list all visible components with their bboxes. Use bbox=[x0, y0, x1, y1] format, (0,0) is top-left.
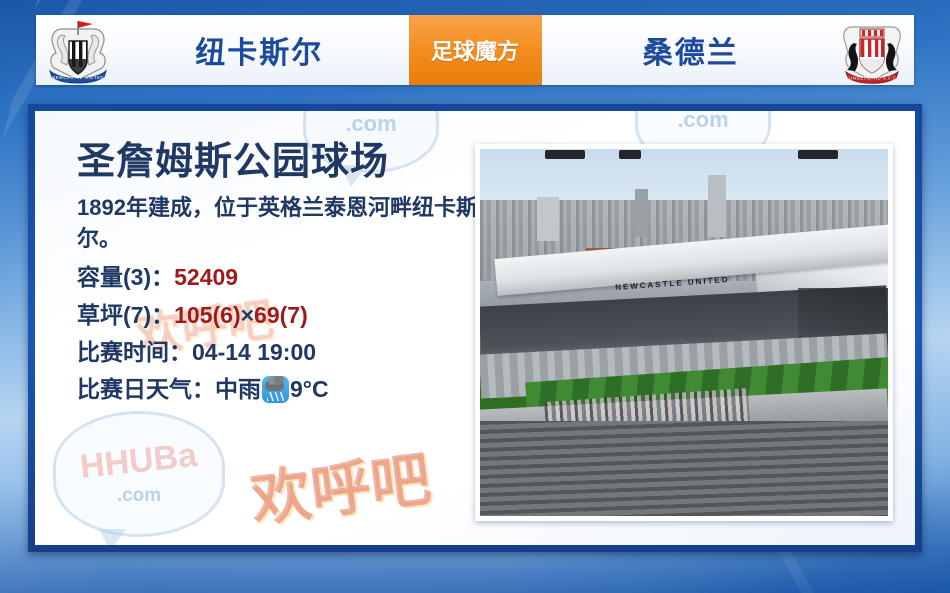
stadium-description: 1892年建成，位于英格兰泰恩河畔纽卡斯尔。 bbox=[77, 192, 487, 256]
stadium-card-inner: .com .com HHUBa .com 欢呼吧 欢呼吧 圣詹姆斯公园球场 18… bbox=[35, 111, 915, 545]
brand-logo-text: 足球魔方 bbox=[431, 34, 519, 66]
match-header: NEWCASTLE UNITED 纽卡斯尔 足球魔方 桑德兰 bbox=[36, 15, 914, 85]
capacity-value: 52409 bbox=[174, 264, 238, 290]
stadium-title: 圣詹姆斯公园球场 bbox=[77, 141, 487, 184]
weather-row: 比赛日天气：中雨9°C bbox=[77, 371, 487, 408]
sunderland-afc-crest: SUNDERLAND A.F.C. bbox=[830, 15, 914, 85]
weather-value: 中雨 bbox=[215, 376, 261, 402]
svg-text:NEWCASTLE UNITED: NEWCASTLE UNITED bbox=[52, 75, 104, 80]
stadium-photo-frame: NEWCASTLE UNITED bbox=[475, 144, 893, 521]
brand-logo[interactable]: 足球魔方 bbox=[409, 15, 542, 85]
watermark-brand-cn: 欢呼吧 bbox=[245, 430, 434, 538]
weather-label: 比赛日天气： bbox=[77, 376, 215, 402]
match-time-value: 04-14 19:00 bbox=[192, 339, 316, 365]
stadium-photo: NEWCASTLE UNITED bbox=[480, 149, 888, 516]
stadium-info: 圣詹姆斯公园球场 1892年建成，位于英格兰泰恩河畔纽卡斯尔。 容量(3)：52… bbox=[77, 141, 487, 408]
match-time-label: 比赛时间： bbox=[77, 339, 192, 365]
pitch-width: 69(7) bbox=[254, 302, 308, 328]
rain-cloud-icon bbox=[262, 376, 289, 403]
home-team-name: 纽卡斯尔 bbox=[120, 28, 409, 72]
capacity-row: 容量(3)：52409 bbox=[77, 259, 487, 296]
pitch-row: 草坪(7)：105(6)×69(7) bbox=[77, 297, 487, 334]
away-team-name: 桑德兰 bbox=[542, 28, 831, 72]
temperature-value: 9°C bbox=[290, 376, 329, 402]
capacity-label: 容量(3)： bbox=[77, 264, 174, 290]
stadium-card: .com .com HHUBa .com 欢呼吧 欢呼吧 圣詹姆斯公园球场 18… bbox=[28, 104, 922, 552]
pitch-times-symbol: × bbox=[241, 302, 254, 328]
app-root: NEWCASTLE UNITED 纽卡斯尔 足球魔方 桑德兰 bbox=[0, 0, 950, 593]
newcastle-united-crest: NEWCASTLE UNITED bbox=[36, 15, 120, 85]
match-time-row: 比赛时间：04-14 19:00 bbox=[77, 334, 487, 371]
svg-text:SUNDERLAND A.F.C.: SUNDERLAND A.F.C. bbox=[846, 76, 898, 81]
watermark-bubble-left: HHUBa .com bbox=[53, 411, 225, 537]
pitch-label: 草坪(7)： bbox=[77, 302, 174, 328]
pitch-length: 105(6) bbox=[174, 302, 240, 328]
